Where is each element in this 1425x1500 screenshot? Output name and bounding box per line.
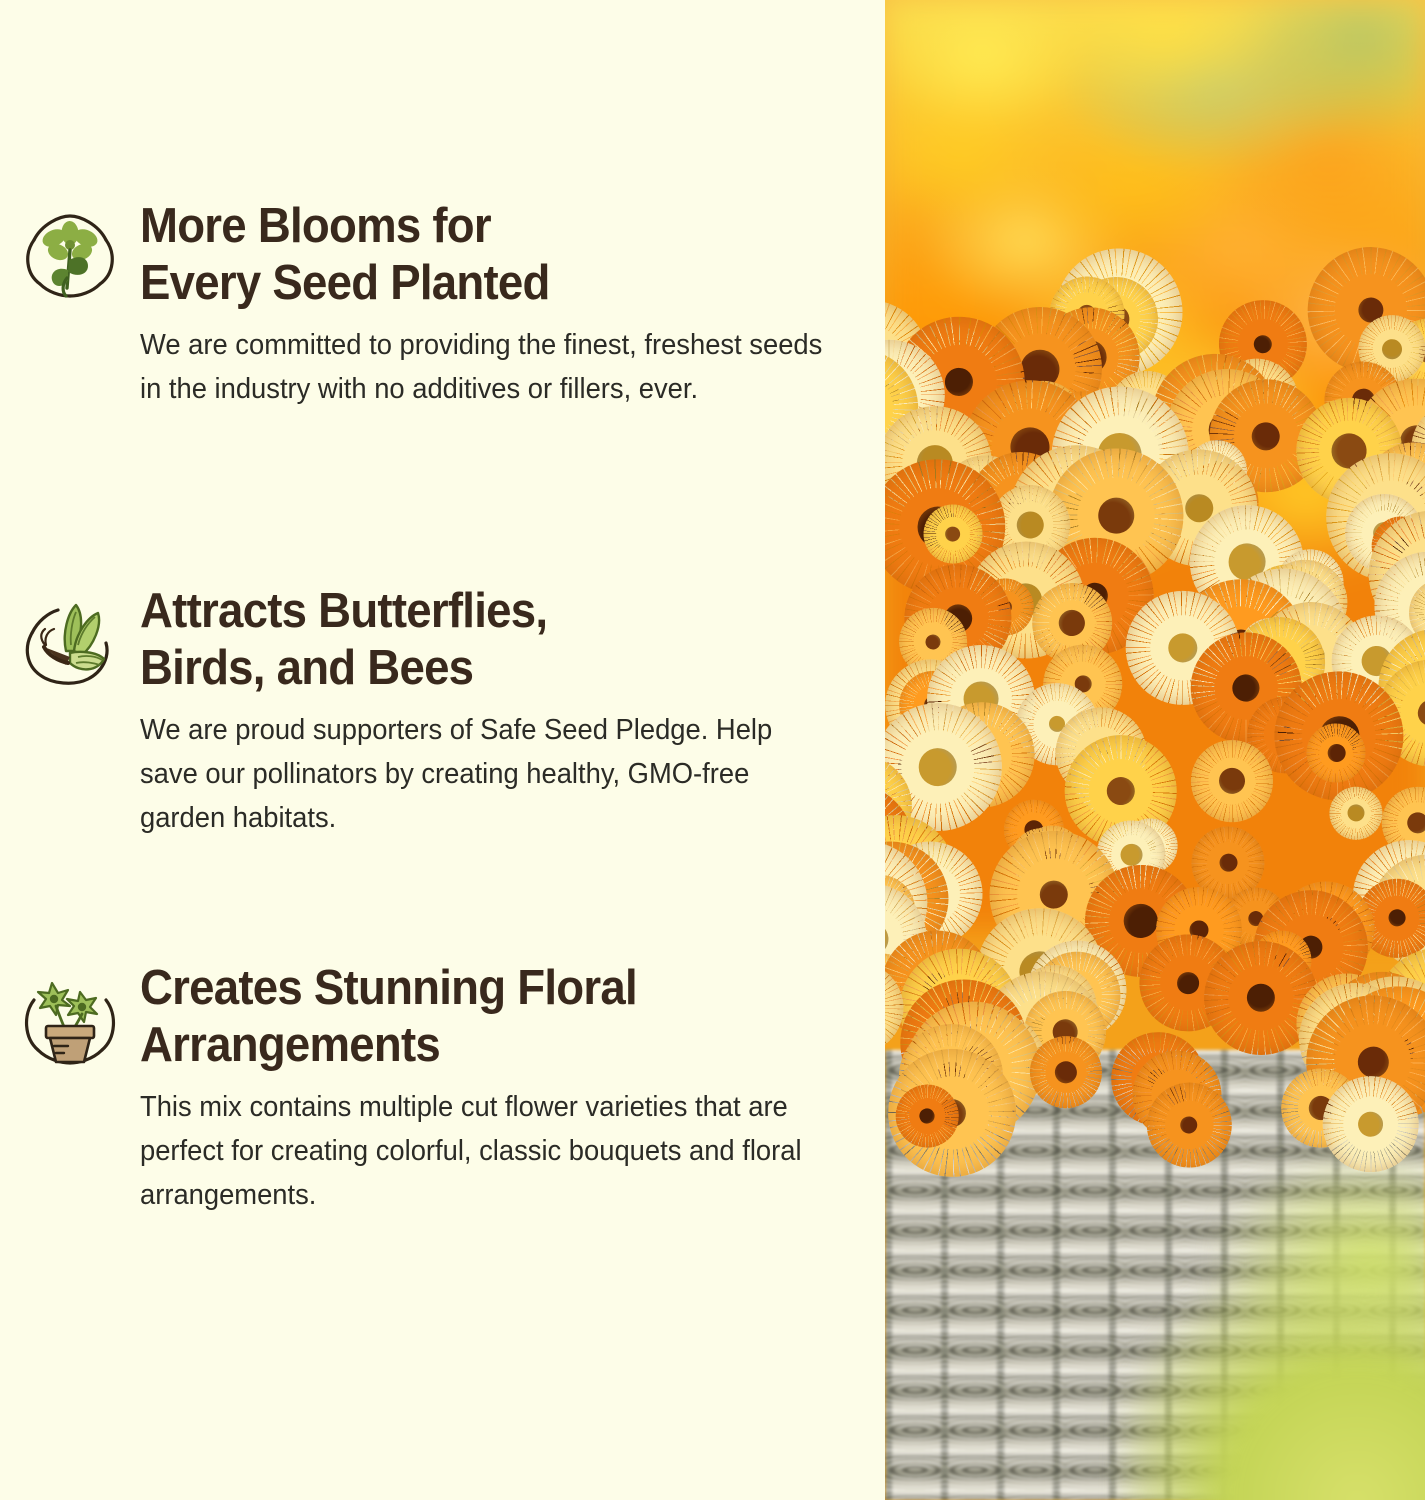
benefit-item-attracts-pollinators: Attracts Butterflies, Birds, and Bees We… <box>0 583 885 840</box>
benefits-panel: More Blooms for Every Seed Planted We ar… <box>0 0 885 1500</box>
benefit-item-more-blooms: More Blooms for Every Seed Planted We ar… <box>0 198 885 411</box>
product-benefits-banner: More Blooms for Every Seed Planted We ar… <box>0 0 1425 1500</box>
benefit-text-block: Attracts Butterflies, Birds, and Bees We… <box>140 583 885 840</box>
flower-in-circle-icon <box>0 198 140 312</box>
benefit-heading: Attracts Butterflies, Birds, and Bees <box>140 583 805 697</box>
benefit-text-block: More Blooms for Every Seed Planted We ar… <box>140 198 885 411</box>
benefit-item-floral-arrangements: Creates Stunning Floral Arrangements Thi… <box>0 960 885 1217</box>
benefit-heading: Creates Stunning Floral Arrangements <box>140 960 805 1074</box>
grass-background-mid-right <box>1220 1155 1425 1335</box>
benefit-description: We are committed to providing the finest… <box>140 323 826 411</box>
benefit-description: This mix contains multiple cut flower va… <box>140 1085 826 1218</box>
calendula-basket-photo <box>885 0 1425 1500</box>
calendula-flower-cluster <box>885 300 1425 1140</box>
benefit-heading: More Blooms for Every Seed Planted <box>140 198 805 312</box>
potted-plant-in-circle-icon <box>0 960 140 1074</box>
benefit-text-block: Creates Stunning Floral Arrangements Thi… <box>140 960 885 1217</box>
butterfly-in-circle-icon <box>0 583 140 697</box>
benefit-description: We are proud supporters of Safe Seed Ple… <box>140 708 826 841</box>
